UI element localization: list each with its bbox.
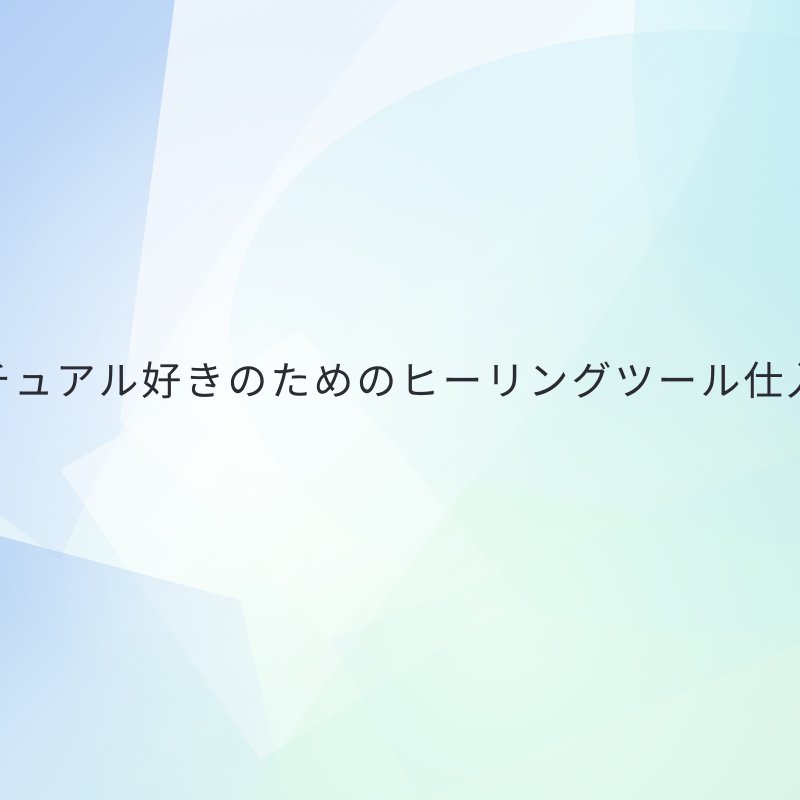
headline-container: リチュアル好きのためのヒーリングツール仕入れ xyxy=(0,0,800,800)
healing-tool-banner: リチュアル好きのためのヒーリングツール仕入れ xyxy=(0,0,800,800)
banner-headline: リチュアル好きのためのヒーリングツール仕入れ xyxy=(0,362,800,402)
